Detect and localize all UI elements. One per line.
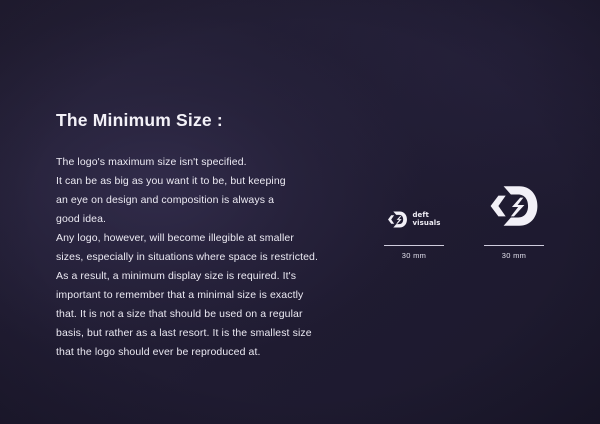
slide-content: The Minimum Size : The logo's maximum si… [0,0,600,424]
body-line: Any logo, however, will become illegible… [56,229,346,248]
body-copy: The logo's maximum size isn't specified.… [56,153,346,362]
logo-lockup: deft visuals [378,209,450,230]
text-block: The Minimum Size : The logo's maximum si… [56,110,346,362]
logo-specimen-symbol: 30 mm [478,168,550,260]
body-line: basis, but rather as a last resort. It i… [56,324,346,343]
body-line: The logo's maximum size isn't specified. [56,153,346,172]
body-line: an eye on design and composition is alwa… [56,191,346,210]
body-line: that. It is not a size that should be us… [56,305,346,324]
logo-specimen-lockup: deft visuals 30 mm [378,168,450,260]
body-line: As a result, a minimum display size is r… [56,267,346,286]
wordmark-line: visuals [412,220,440,227]
logo-specimens: deft visuals 30 mm [368,168,548,260]
body-line: that the logo should ever be reproduced … [56,343,346,362]
body-line: sizes, especially in situations where sp… [56,248,346,267]
slide-canvas: The Minimum Size : The logo's maximum si… [0,0,600,424]
measure-rule [384,245,444,246]
measure-rule [484,245,544,246]
page-title: The Minimum Size : [56,110,346,131]
measure-lockup: 30 mm [378,245,450,260]
wordmark: deft visuals [412,212,440,226]
measure-label: 30 mm [378,251,450,260]
deft-visuals-d-mark-icon [488,180,540,232]
measure-label: 30 mm [478,251,550,260]
measure-symbol: 30 mm [478,245,550,260]
logo-symbol [478,180,550,232]
body-line: good idea. [56,210,346,229]
body-line: It can be as big as you want it to be, b… [56,172,346,191]
body-line: important to remember that a minimal siz… [56,286,346,305]
deft-visuals-d-mark-icon [387,209,408,230]
